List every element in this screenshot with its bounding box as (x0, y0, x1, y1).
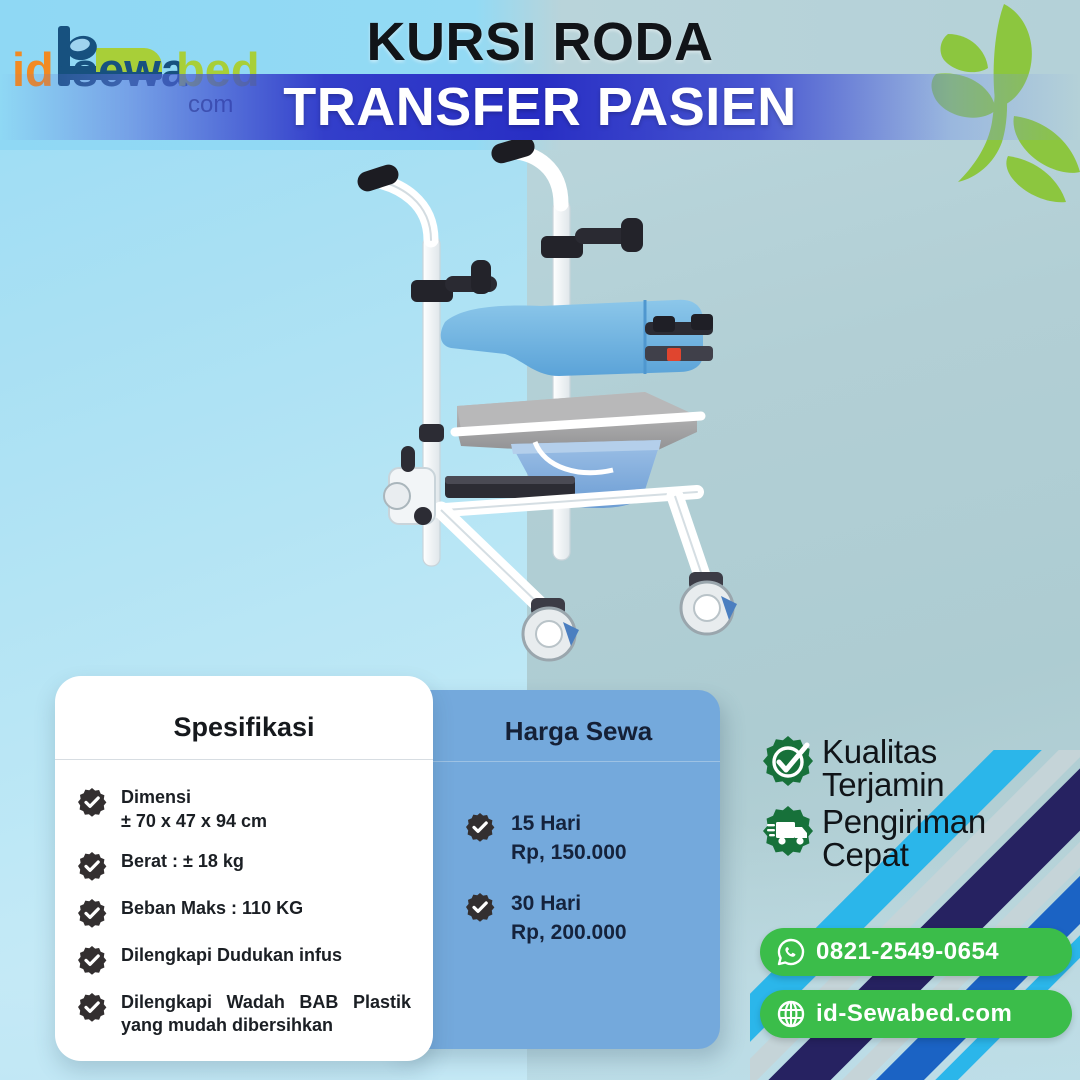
delivery-truck-icon (762, 805, 814, 857)
check-badge-icon (77, 945, 107, 975)
price-duration: 15 Hari (511, 812, 581, 835)
whatsapp-number: 0821-2549-0654 (816, 938, 999, 966)
check-badge-icon (77, 851, 107, 881)
spec-item-label: Dimensi (121, 787, 191, 807)
feature-line-1: Pengiriman (822, 803, 986, 840)
feature-item-delivery: Pengiriman Cepat (762, 805, 1062, 871)
contact-block: 0821-2549-0654 id-Sewabed.com (760, 928, 1072, 1052)
specification-card-title: Spesifikasi (55, 676, 433, 759)
price-item-text: 30 Hari Rp, 200.000 (511, 890, 627, 948)
headline-line-1: KURSI RODA (0, 14, 1080, 71)
feature-line-2: Terjamin (822, 766, 944, 803)
globe-icon (776, 999, 806, 1029)
check-badge-icon (465, 892, 495, 922)
specification-list: Dimensi ± 70 x 47 x 94 cm Berat : ± 18 k… (55, 760, 433, 1038)
price-item: 30 Hari Rp, 200.000 (465, 890, 720, 948)
check-badge-icon (77, 898, 107, 928)
website-url: id-Sewabed.com (816, 1000, 1012, 1028)
price-amount: Rp, 150.000 (511, 841, 627, 864)
spec-item-text: Berat : ± 18 kg (121, 850, 244, 874)
spec-item: Dimensi ± 70 x 47 x 94 cm (77, 786, 411, 834)
spec-item: Berat : ± 18 kg (77, 850, 411, 881)
verified-check-icon (762, 735, 814, 787)
spec-item-text: Beban Maks : 110 KG (121, 897, 303, 921)
check-badge-icon (465, 812, 495, 842)
spec-item-text: Dilengkapi Wadah BAB Plastik yang mudah … (121, 991, 411, 1039)
price-panel-title: Harga Sewa (393, 690, 720, 761)
check-badge-icon (77, 787, 107, 817)
specification-card: Spesifikasi Dimensi ± 70 x 47 x 94 cm (55, 676, 433, 1061)
price-item-text: 15 Hari Rp, 150.000 (511, 810, 627, 868)
spec-item-sub: ± 70 x 47 x 94 cm (121, 810, 267, 834)
feature-label-quality: Kualitas Terjamin (822, 735, 944, 801)
price-duration: 30 Hari (511, 892, 581, 915)
spec-item-text: Dimensi ± 70 x 47 x 94 cm (121, 786, 267, 834)
headline-banner: TRANSFER PASIEN (0, 74, 1080, 140)
price-item: 15 Hari Rp, 150.000 (465, 810, 720, 868)
feature-line-1: Kualitas (822, 733, 937, 770)
whatsapp-contact-pill[interactable]: 0821-2549-0654 (760, 928, 1072, 976)
price-panel: Harga Sewa 15 Hari Rp, 150.000 (393, 690, 720, 1049)
website-contact-pill[interactable]: id-Sewabed.com (760, 990, 1072, 1038)
feature-label-delivery: Pengiriman Cepat (822, 805, 986, 871)
feature-list: Kualitas Terjamin Pengiriman Ce (762, 735, 1062, 875)
check-badge-icon (77, 992, 107, 1022)
price-amount: Rp, 200.000 (511, 921, 627, 944)
feature-line-2: Cepat (822, 836, 909, 873)
whatsapp-icon (776, 937, 806, 967)
price-list: 15 Hari Rp, 150.000 30 Hari Rp, 200.000 (393, 762, 720, 948)
spec-item: Dilengkapi Wadah BAB Plastik yang mudah … (77, 991, 411, 1039)
product-image-patient-transfer-wheelchair (345, 140, 775, 680)
spec-item: Beban Maks : 110 KG (77, 897, 411, 928)
poster-root: id sewa bed com KURSI RODA TRANSFER PASI… (0, 0, 1080, 1080)
feature-item-quality: Kualitas Terjamin (762, 735, 1062, 801)
spec-item: Dilengkapi Dudukan infus (77, 944, 411, 975)
headline-line-2: TRANSFER PASIEN (283, 76, 797, 138)
spec-item-text: Dilengkapi Dudukan infus (121, 944, 342, 968)
headline-block: KURSI RODA (0, 14, 1080, 71)
